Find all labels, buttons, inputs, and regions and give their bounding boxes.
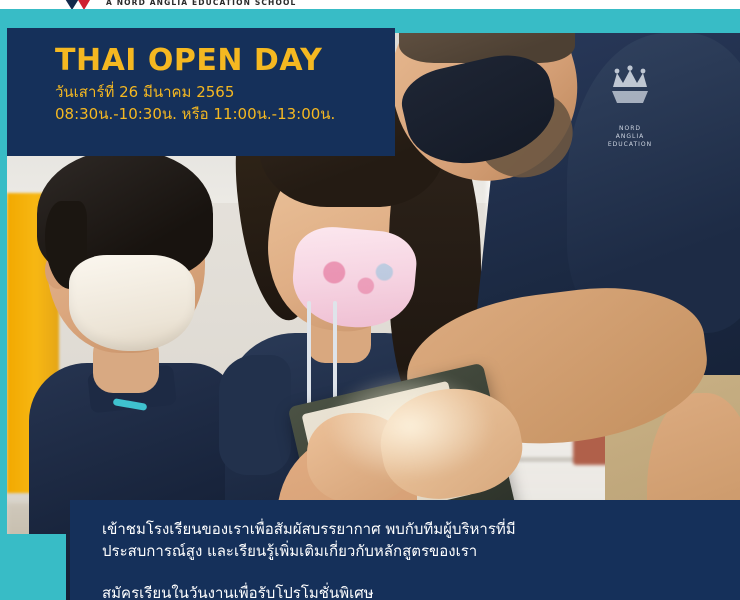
open-day-poster: NORD ANGLIA EDUCATION A NORD ANGLIA EDUC… xyxy=(0,0,740,600)
brand-logo-strip: A NORD ANGLIA EDUCATION SCHOOL xyxy=(0,0,740,9)
brand-tagline: A NORD ANGLIA EDUCATION SCHOOL xyxy=(106,0,296,7)
crest-label: NORD ANGLIA EDUCATION xyxy=(601,125,659,149)
event-time: 08:30น.-10:30น. หรือ 11:00น.-13:00น. xyxy=(55,104,395,125)
student-girl-sleeve xyxy=(219,355,291,475)
teal-bottom-left-block xyxy=(0,534,66,600)
shield-right-half xyxy=(75,0,93,9)
footer-text-line-3: สมัครเรียนในวันงานเพื่อรับโปรโมชั่นพิเศษ xyxy=(102,582,740,600)
footer-text-line-1: เข้าชมโรงเรียนของเราเพื่อสัมผัสบรรยากาศ … xyxy=(102,518,740,540)
footer-panel: เข้าชมโรงเรียนของเราเพื่อสัมผัสบรรยากาศ … xyxy=(70,500,740,600)
header-panel: THAI OPEN DAY วันเสาร์ที่ 26 มีนาคม 2565… xyxy=(7,28,395,156)
tablet-screen-glow xyxy=(325,371,495,481)
footer-text-line-2: ประสบการณ์สูง และเรียนรู้เพิ่มเติมเกี่ยว… xyxy=(102,540,740,562)
crown-crest-icon xyxy=(607,65,653,123)
event-date: วันเสาร์ที่ 26 มีนาคม 2565 xyxy=(55,82,395,103)
page-title: THAI OPEN DAY xyxy=(55,44,395,78)
crest-label-line1: NORD xyxy=(601,125,659,133)
student-boy-face-mask xyxy=(69,255,195,351)
crest-label-line2: ANGLIA xyxy=(601,133,659,141)
crest-label-line3: EDUCATION xyxy=(601,141,659,149)
nord-anglia-shield-icon xyxy=(58,0,98,9)
teal-left-rail xyxy=(0,9,7,537)
